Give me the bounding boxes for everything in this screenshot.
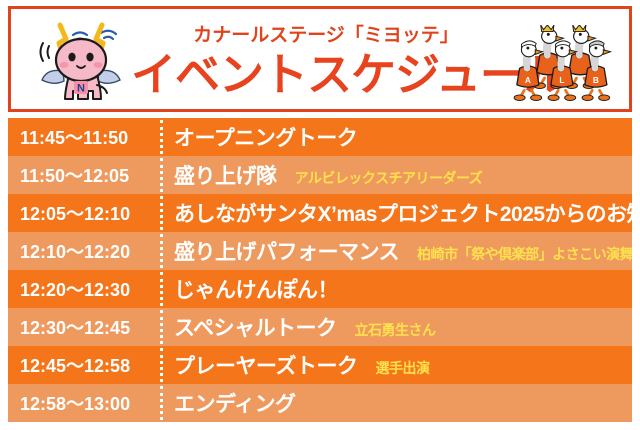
- row-divider: [160, 310, 163, 344]
- row-content: スペシャルトーク 立石勇生さん: [174, 312, 632, 342]
- row-content: プレーヤーズトーク 選手出演: [174, 350, 632, 380]
- table-row: 12:30〜12:45 スペシャルトーク 立石勇生さん: [8, 308, 632, 346]
- table-row: 12:58〜13:00 エンディング: [8, 384, 632, 422]
- row-title: じゃんけんぽん！: [174, 274, 338, 304]
- header-banner: N カナールステージ「ミヨッテ」 イベントスケジュール: [8, 6, 632, 112]
- row-title: 盛り上げ隊: [174, 160, 277, 190]
- row-title: プレーヤーズトーク: [174, 350, 357, 380]
- svg-text:L: L: [559, 76, 564, 85]
- pink-fairy-mascot-icon: N: [29, 13, 133, 111]
- table-row: 12:05〜12:10 あしながサンタX’masプロジェクト2025からのお知ら…: [8, 194, 632, 232]
- row-note: 柏崎市「祭や倶楽部」よさこい演舞: [417, 244, 632, 264]
- row-content: オープニングトーク: [174, 122, 632, 152]
- svg-text:N: N: [77, 83, 85, 95]
- row-content: エンディング: [174, 388, 632, 418]
- row-time: 12:30〜12:45: [8, 314, 160, 340]
- row-content: 盛り上げパフォーマンス 柏崎市「祭や倶楽部」よさこい演舞: [174, 236, 632, 266]
- row-divider: [160, 158, 163, 192]
- row-divider: [160, 120, 163, 154]
- row-title: オープニングトーク: [174, 122, 357, 152]
- svg-text:A: A: [525, 76, 531, 85]
- row-time: 12:58〜13:00: [8, 390, 160, 416]
- row-content: あしながサンタX’masプロジェクト2025からのお知らせ: [174, 198, 632, 228]
- row-content: 盛り上げ隊 アルビレックスチアリーダーズ: [174, 160, 632, 190]
- row-divider: [160, 196, 163, 230]
- row-divider: [160, 234, 163, 268]
- row-title: スペシャルトーク: [174, 312, 337, 342]
- albirex-swan-mascot-group-icon: A L B: [507, 25, 625, 105]
- schedule-table: 11:45〜11:50 オープニングトーク 11:50〜12:05 盛り上げ隊 …: [8, 118, 632, 422]
- row-time: 11:50〜12:05: [8, 162, 160, 188]
- table-row: 11:50〜12:05 盛り上げ隊 アルビレックスチアリーダーズ: [8, 156, 632, 194]
- row-title: 盛り上げパフォーマンス: [174, 236, 399, 266]
- svg-text:B: B: [593, 76, 599, 85]
- row-divider: [160, 386, 163, 420]
- row-title: エンディング: [174, 388, 296, 418]
- row-time: 12:10〜12:20: [8, 238, 160, 264]
- row-divider: [160, 272, 163, 306]
- row-note: アルビレックスチアリーダーズ: [295, 168, 483, 188]
- event-schedule-poster: N カナールステージ「ミヨッテ」 イベントスケジュール: [0, 0, 640, 430]
- row-title: あしながサンタX’masプロジェクト2025からのお知らせ: [174, 198, 632, 228]
- row-content: じゃんけんぽん！: [174, 274, 632, 304]
- row-time: 12:05〜12:10: [8, 200, 160, 226]
- header-inner: N カナールステージ「ミヨッテ」 イベントスケジュール: [11, 9, 629, 109]
- table-row: 12:20〜12:30 じゃんけんぽん！: [8, 270, 632, 308]
- table-row: 11:45〜11:50 オープニングトーク: [8, 118, 632, 156]
- row-divider: [160, 348, 163, 382]
- row-note: 立石勇生さん: [355, 320, 436, 340]
- table-row: 12:10〜12:20 盛り上げパフォーマンス 柏崎市「祭や倶楽部」よさこい演舞: [8, 232, 632, 270]
- row-time: 11:45〜11:50: [8, 124, 160, 150]
- title-block: カナールステージ「ミヨッテ」 イベントスケジュール: [131, 13, 521, 109]
- poster-title: イベントスケジュール: [131, 49, 521, 101]
- row-time: 12:20〜12:30: [8, 276, 160, 302]
- poster-subtitle: カナールステージ「ミヨッテ」: [131, 21, 521, 51]
- row-note: 選手出演: [375, 358, 429, 378]
- table-row: 12:45〜12:58 プレーヤーズトーク 選手出演: [8, 346, 632, 384]
- row-time: 12:45〜12:58: [8, 352, 160, 378]
